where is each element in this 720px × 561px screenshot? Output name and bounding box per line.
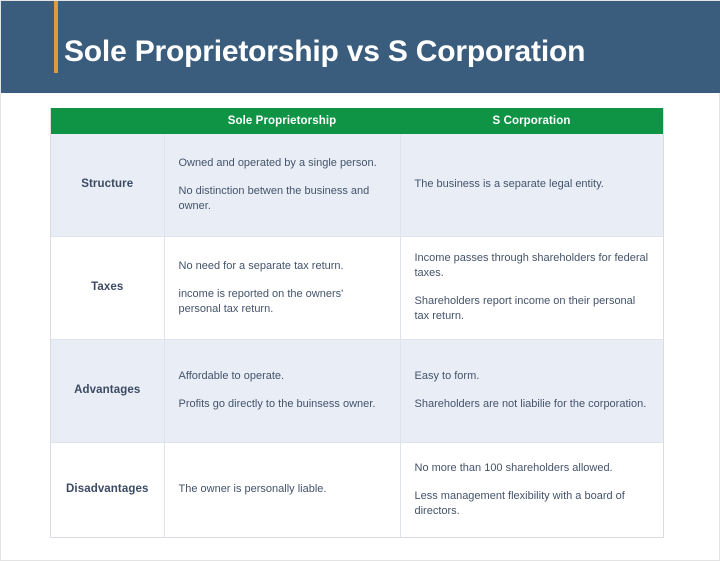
row-label-taxes: Taxes (51, 236, 164, 339)
row-label-disadvantages: Disadvantages (51, 442, 164, 537)
cell-paragraph: Shareholders report income on their pers… (415, 294, 650, 324)
cell-paragraph: Profits go directly to the buinsess owne… (179, 397, 386, 412)
cell-paragraph: Owned and operated by a single person. (179, 156, 386, 171)
cell-paragraph: The owner is personally liable. (179, 482, 386, 497)
cell-structure-sole-proprietorship: Owned and operated by a single person. N… (164, 134, 400, 236)
cell-paragraph: The business is a separate legal entity. (415, 177, 650, 192)
cell-paragraph: No distinction betwen the business and o… (179, 184, 386, 214)
cell-paragraph: Easy to form. (415, 369, 650, 384)
row-label-structure: Structure (51, 134, 164, 236)
column-header-s-corporation: S Corporation (400, 108, 663, 134)
cell-paragraph: Shareholders are not liabilie for the co… (415, 397, 650, 412)
table-row: Taxes No need for a separate tax return.… (51, 236, 663, 339)
table-row: Advantages Affordable to operate. Profit… (51, 339, 663, 442)
cell-paragraph: income is reported on the owners' person… (179, 287, 386, 317)
column-header-sole-proprietorship: Sole Proprietorship (164, 108, 400, 134)
cell-paragraph: Affordable to operate. (179, 369, 386, 384)
cell-paragraph: Income passes through shareholders for f… (415, 251, 650, 281)
slide-header-band: Sole Proprietorship vs S Corporation (1, 1, 720, 93)
table-row: Structure Owned and operated by a single… (51, 134, 663, 236)
comparison-table: Sole Proprietorship S Corporation Struct… (51, 108, 663, 537)
column-header-blank (51, 108, 164, 134)
header-accent-bar (54, 1, 58, 73)
cell-disadvantages-s-corporation: No more than 100 shareholders allowed. L… (400, 442, 663, 537)
cell-advantages-s-corporation: Easy to form. Shareholders are not liabi… (400, 339, 663, 442)
table-row: Disadvantages The owner is personally li… (51, 442, 663, 537)
table-header: Sole Proprietorship S Corporation (51, 108, 663, 134)
cell-paragraph: Less management flexibility with a board… (415, 489, 650, 519)
cell-paragraph: No more than 100 shareholders allowed. (415, 461, 650, 476)
cell-advantages-sole-proprietorship: Affordable to operate. Profits go direct… (164, 339, 400, 442)
cell-disadvantages-sole-proprietorship: The owner is personally liable. (164, 442, 400, 537)
cell-taxes-sole-proprietorship: No need for a separate tax return. incom… (164, 236, 400, 339)
table-header-row: Sole Proprietorship S Corporation (51, 108, 663, 134)
comparison-table-container: Sole Proprietorship S Corporation Struct… (50, 108, 664, 538)
slide-canvas: Sole Proprietorship vs S Corporation Sol… (0, 0, 720, 561)
cell-structure-s-corporation: The business is a separate legal entity. (400, 134, 663, 236)
table-body: Structure Owned and operated by a single… (51, 134, 663, 537)
page-title: Sole Proprietorship vs S Corporation (64, 34, 585, 70)
cell-taxes-s-corporation: Income passes through shareholders for f… (400, 236, 663, 339)
row-label-advantages: Advantages (51, 339, 164, 442)
cell-paragraph: No need for a separate tax return. (179, 259, 386, 274)
